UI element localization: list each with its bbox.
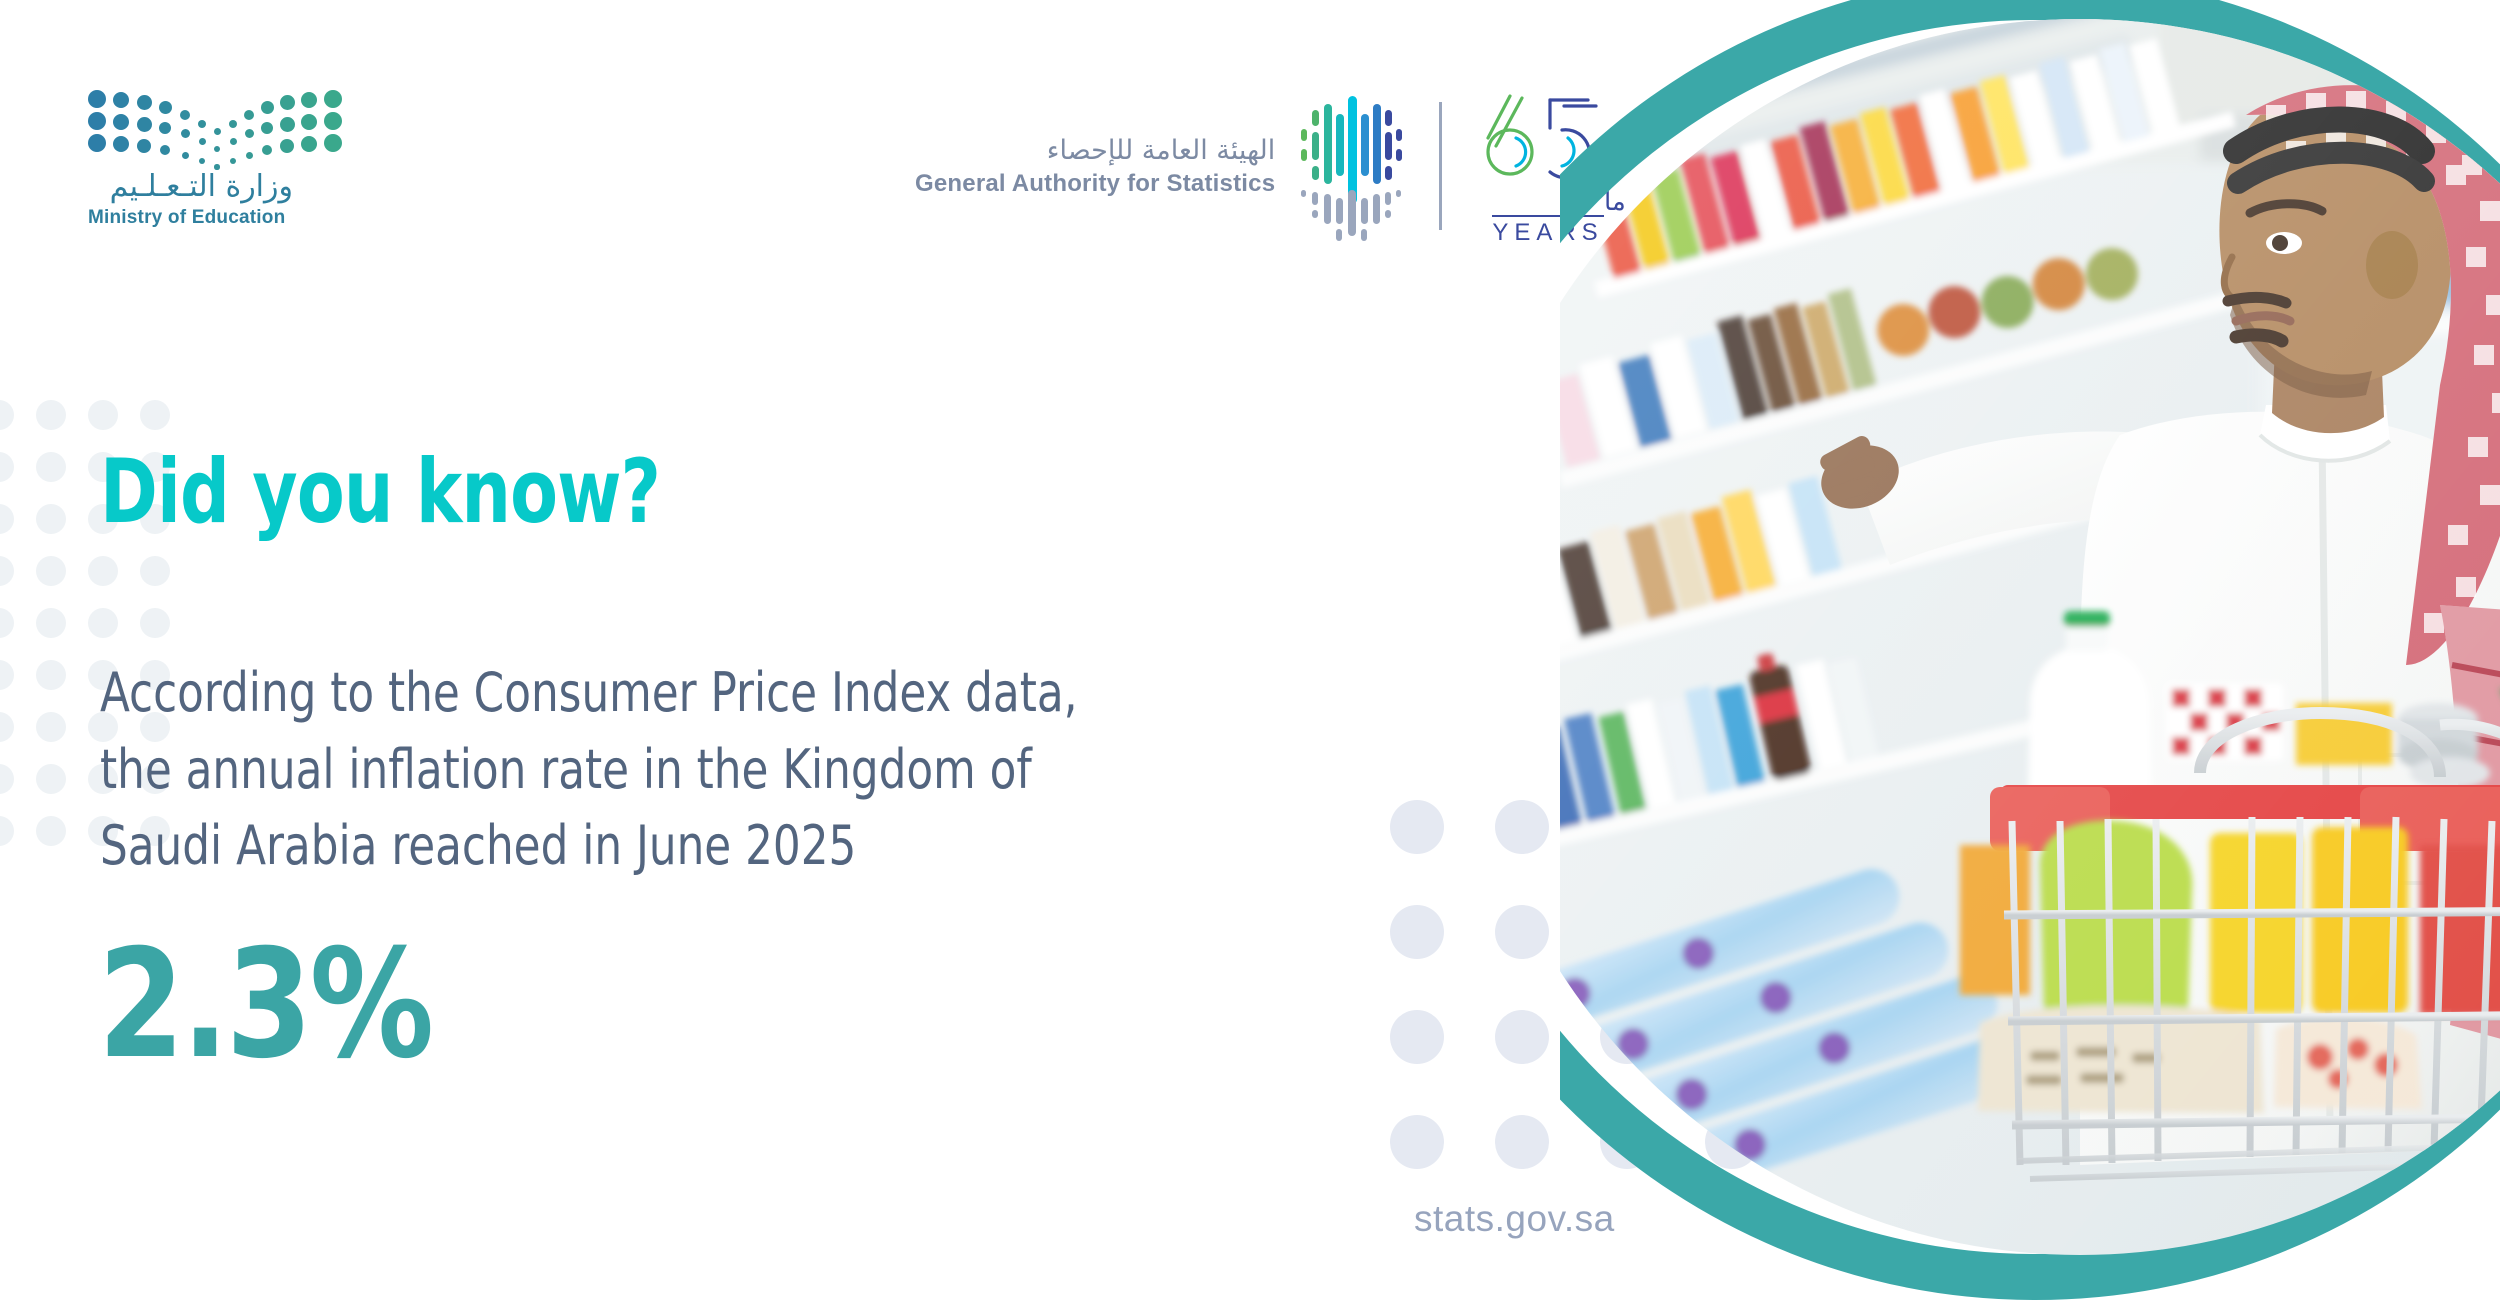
logo-dot bbox=[88, 112, 106, 130]
dot bbox=[1495, 1115, 1549, 1169]
general-authority-for-statistics-logo: الهيئة العامة للإحصاء General Authority … bbox=[915, 86, 1624, 246]
logo-dot bbox=[199, 158, 205, 164]
logo-dot bbox=[280, 139, 294, 153]
logo-dot bbox=[137, 139, 151, 153]
dot bbox=[36, 556, 66, 586]
dot bbox=[140, 556, 170, 586]
dot-wave-icon bbox=[88, 88, 313, 160]
logo-dot bbox=[246, 152, 253, 159]
logo-dot bbox=[214, 128, 221, 135]
dot bbox=[36, 764, 66, 794]
logo-dot bbox=[280, 117, 295, 132]
dot bbox=[36, 452, 66, 482]
logo-dot bbox=[137, 117, 152, 132]
logo-dot bbox=[159, 122, 171, 134]
logo-dot bbox=[159, 101, 172, 114]
logo-dot bbox=[230, 158, 236, 164]
logo-dot bbox=[301, 136, 317, 152]
logo-dot bbox=[88, 134, 106, 152]
logo-dot bbox=[301, 114, 317, 130]
dot bbox=[1390, 1010, 1444, 1064]
dot bbox=[0, 400, 14, 430]
logo-divider bbox=[1439, 102, 1442, 230]
logo-dot bbox=[245, 129, 254, 138]
ministry-of-education-logo: وزارة التـعـلـيم Ministry of Education bbox=[88, 88, 313, 238]
logo-dot bbox=[324, 134, 342, 152]
supermarket-shopper-photo bbox=[1560, 0, 2500, 1307]
dot bbox=[36, 712, 66, 742]
logo-dot bbox=[280, 95, 295, 110]
dot bbox=[140, 608, 170, 638]
logo-dot bbox=[137, 95, 152, 110]
logo-dot bbox=[214, 146, 220, 152]
logo-dot bbox=[182, 152, 189, 159]
dot bbox=[0, 712, 14, 742]
logo-dot bbox=[261, 101, 274, 114]
ministry-logo-english-name: Ministry of Education bbox=[88, 207, 293, 229]
dot bbox=[0, 504, 14, 534]
logo-dot bbox=[324, 112, 342, 130]
logo-dot bbox=[261, 122, 273, 134]
logo-dot bbox=[301, 92, 317, 108]
page-title: Did you know? bbox=[100, 440, 660, 543]
ministry-logo-arabic-name: وزارة التـعـلـيم bbox=[88, 170, 293, 203]
dot bbox=[0, 452, 14, 482]
infographic-canvas: وزارة التـعـلـيم Ministry of Education ا… bbox=[0, 0, 2500, 1307]
dot bbox=[0, 764, 14, 794]
dot bbox=[88, 400, 118, 430]
logo-dot bbox=[244, 110, 254, 120]
dot bbox=[140, 400, 170, 430]
logo-dot bbox=[262, 145, 272, 155]
dot bbox=[36, 400, 66, 430]
vertical-bars-icon bbox=[1297, 86, 1405, 246]
dot bbox=[0, 816, 14, 846]
dot bbox=[1495, 800, 1549, 854]
dot bbox=[36, 816, 66, 846]
dot bbox=[36, 660, 66, 690]
dot bbox=[36, 504, 66, 534]
logo-dot bbox=[160, 145, 170, 155]
dot bbox=[88, 556, 118, 586]
dot bbox=[0, 660, 14, 690]
gastat-text-block: الهيئة العامة للإحصاء General Authority … bbox=[915, 134, 1297, 199]
body-paragraph: According to the Consumer Price Index da… bbox=[100, 655, 1162, 885]
logo-dot bbox=[324, 90, 342, 108]
dot bbox=[0, 608, 14, 638]
logo-dot bbox=[198, 120, 206, 128]
logo-dot bbox=[214, 164, 219, 169]
dot bbox=[36, 608, 66, 638]
logo-dot bbox=[181, 129, 190, 138]
dot bbox=[1390, 800, 1444, 854]
gastat-arabic-name: الهيئة العامة للإحصاء bbox=[915, 134, 1275, 168]
logo-dot bbox=[113, 114, 129, 130]
logo-dot bbox=[229, 120, 237, 128]
logo-dot bbox=[180, 110, 190, 120]
logo-dot bbox=[113, 92, 129, 108]
photo-content bbox=[1560, 0, 2500, 1307]
inflation-rate-value: 2.3% bbox=[98, 930, 431, 1080]
dot bbox=[1495, 1010, 1549, 1064]
logo-dot bbox=[230, 138, 237, 145]
dot bbox=[88, 608, 118, 638]
dot bbox=[0, 556, 14, 586]
dot bbox=[1390, 1115, 1444, 1169]
dot bbox=[1390, 905, 1444, 959]
logo-dot bbox=[199, 138, 206, 145]
logo-dot bbox=[88, 90, 106, 108]
gastat-english-name: General Authority for Statistics bbox=[915, 170, 1275, 198]
dot bbox=[1495, 905, 1549, 959]
logo-dot bbox=[113, 136, 129, 152]
